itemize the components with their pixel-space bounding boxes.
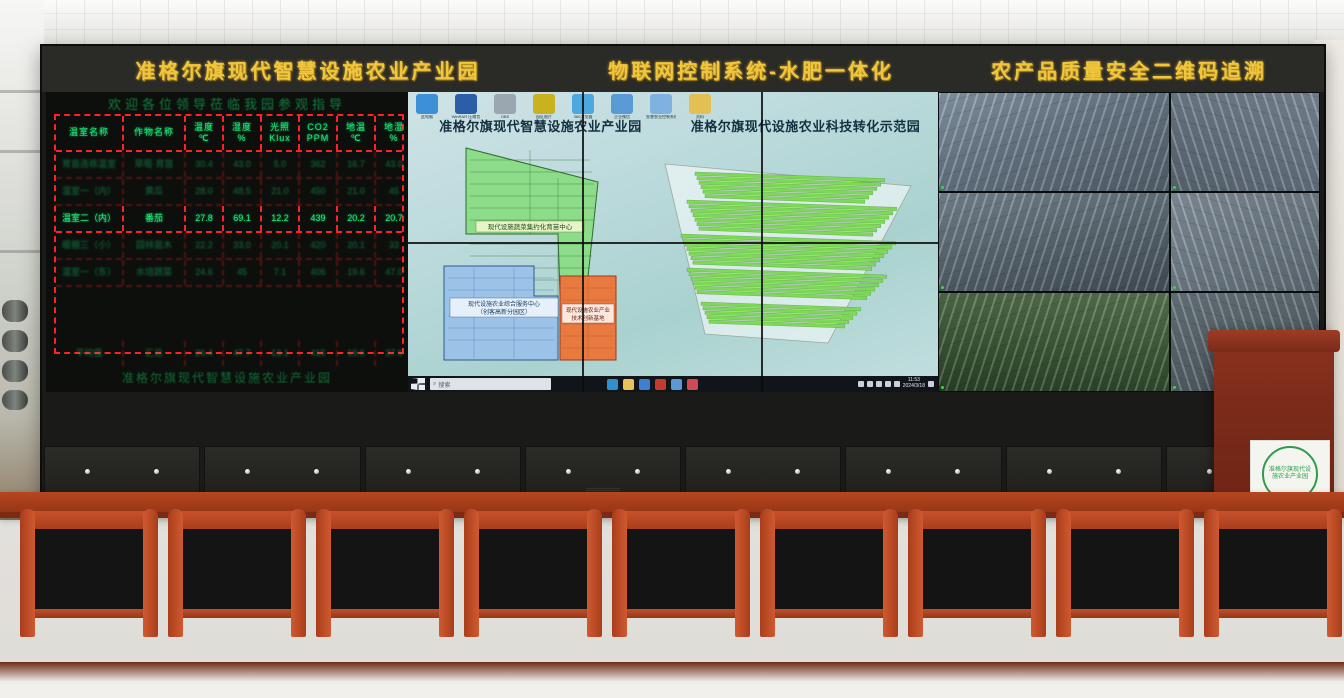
table-cell: 406 bbox=[300, 260, 338, 285]
door-knob[interactable] bbox=[245, 469, 250, 474]
ceiling bbox=[0, 0, 1344, 46]
table-cell: 21.0 bbox=[338, 179, 376, 204]
table-cell: 汇总 bbox=[124, 341, 186, 366]
taskbar-clock[interactable]: 11:53 2024/3/18 bbox=[903, 378, 925, 390]
control-room-photo: 准格尔旗现代智慧设施农业产业园 物联网控制系统-水肥一体化 农产品质量安全二维码… bbox=[0, 0, 1344, 698]
table-cell: 温室二（内） bbox=[56, 206, 124, 231]
table-cell bbox=[224, 314, 262, 339]
table-cell: 30.4 bbox=[186, 152, 224, 177]
column-header: 作物名称 bbox=[124, 116, 186, 150]
table-cell: 20.7 bbox=[376, 206, 408, 231]
table-cell: 69.1 bbox=[224, 206, 262, 231]
svg-text:现代设施农业综合服务中心: 现代设施农业综合服务中心 bbox=[468, 300, 540, 308]
table-cell: 温室一（东） bbox=[56, 260, 124, 285]
map-area: 现代设施蔬菜集约化育苗中心 现代设施农业综合服务中心 （创客高新分园区） bbox=[408, 136, 938, 366]
door-knob[interactable] bbox=[406, 469, 411, 474]
table-cell: 13.1 bbox=[262, 341, 300, 366]
table-cell: 22.2 bbox=[186, 233, 224, 258]
table-cell: 45 bbox=[224, 260, 262, 285]
table-cell: 48.5 bbox=[224, 179, 262, 204]
table-cell: 21.0 bbox=[262, 179, 300, 204]
map-title-left: 准格尔旗现代智慧设施农业产业园 bbox=[408, 116, 673, 135]
table-row: 暖棚三（小）园林苗木22.233.020.142020.133 bbox=[56, 233, 402, 260]
table-cell: 28.0 bbox=[186, 179, 224, 204]
table-cell bbox=[338, 314, 376, 339]
table-cell: 20.1 bbox=[262, 233, 300, 258]
map-titles: 准格尔旗现代智慧设施农业产业园 准格尔旗现代设施农业科技转化示范园 bbox=[408, 116, 938, 135]
conference-chair bbox=[1198, 505, 1344, 665]
map-title-right: 准格尔旗现代设施农业科技转化示范园 bbox=[673, 116, 938, 135]
taskbar-search-input[interactable]: ⌕ 搜索 bbox=[430, 378, 551, 390]
edge-icon[interactable] bbox=[607, 379, 618, 390]
table-cell: 415 bbox=[300, 341, 338, 366]
recording-indicator bbox=[941, 386, 944, 389]
table-cell bbox=[376, 314, 408, 339]
cam-3[interactable] bbox=[938, 192, 1170, 292]
door-knob[interactable] bbox=[1116, 469, 1121, 474]
recording-indicator bbox=[941, 286, 944, 289]
column-header: 湿度% bbox=[224, 116, 262, 150]
table-cell: 19.6 bbox=[338, 341, 376, 366]
table-cell: 5.0 bbox=[262, 152, 300, 177]
table-cell: 温室一（内） bbox=[56, 179, 124, 204]
column-header: 地湿% bbox=[376, 116, 408, 150]
table-cell: 黄瓜 bbox=[124, 179, 186, 204]
clock-date: 2024/3/18 bbox=[903, 384, 925, 390]
site-plan-right bbox=[643, 138, 933, 364]
bottom-border bbox=[0, 684, 1344, 698]
conference-chair bbox=[754, 505, 904, 665]
cam-2[interactable] bbox=[1170, 92, 1320, 192]
table-cell: 43.0 bbox=[376, 152, 408, 177]
table-cell: 水培蔬菜 bbox=[124, 260, 186, 285]
table-cell bbox=[376, 287, 408, 312]
store-icon[interactable] bbox=[687, 379, 698, 390]
table-cell: 362 bbox=[300, 152, 338, 177]
video-wall: 准格尔旗现代智慧设施农业产业园 物联网控制系统-水肥一体化 农产品质量安全二维码… bbox=[40, 44, 1326, 503]
table-cell: 45 bbox=[376, 179, 408, 204]
network-icon bbox=[867, 381, 873, 387]
table-cell: 47.0 bbox=[376, 260, 408, 285]
door-knob[interactable] bbox=[1207, 469, 1212, 474]
start-button-icon[interactable] bbox=[411, 378, 425, 390]
column-header: 温室名称 bbox=[56, 116, 124, 150]
desktop-screen[interactable]: 此电脑WinRAR 压缩包OBS园区图片360浏览器企业微信智慧农业控制系统资料… bbox=[408, 92, 938, 392]
table-cell: 16.7 bbox=[338, 152, 376, 177]
door-knob[interactable] bbox=[955, 469, 960, 474]
taskbar-pinned-apps[interactable] bbox=[607, 379, 698, 390]
door-knob[interactable] bbox=[314, 469, 319, 474]
table-cell bbox=[186, 314, 224, 339]
table-cell: 43.0 bbox=[224, 152, 262, 177]
led-footer: 准格尔旗现代智慧设施农业产业园 bbox=[46, 369, 408, 386]
table-cell bbox=[56, 287, 124, 312]
table-cell: 20.2 bbox=[338, 206, 376, 231]
table-cell bbox=[224, 287, 262, 312]
table-cell bbox=[300, 314, 338, 339]
banner-title-center: 物联网控制系统-水肥一体化 bbox=[566, 50, 936, 88]
table-cell: 26.4 bbox=[186, 341, 224, 366]
table-cell: 育苗连栋温室 bbox=[56, 152, 124, 177]
table-cell: 439 bbox=[300, 206, 338, 231]
table-cell bbox=[124, 287, 186, 312]
door-knob[interactable] bbox=[85, 469, 90, 474]
conference-chair bbox=[162, 505, 312, 665]
table-cell: 番茄 bbox=[124, 206, 186, 231]
table-row: 温室一（内）黄瓜28.048.521.045021.045 bbox=[56, 179, 402, 206]
site-plan-left: 现代设施蔬菜集约化育苗中心 现代设施农业综合服务中心 （创客高新分园区） bbox=[430, 138, 630, 364]
table-cell: 37.9 bbox=[376, 341, 408, 366]
column-header: CO2PPM bbox=[300, 116, 338, 150]
door-knob[interactable] bbox=[475, 469, 480, 474]
table-cell bbox=[186, 287, 224, 312]
conference-chair bbox=[902, 505, 1052, 665]
system-tray[interactable]: 11:53 2024/3/18 bbox=[858, 378, 938, 390]
table-cell bbox=[262, 314, 300, 339]
mail-icon[interactable] bbox=[639, 379, 650, 390]
chair-row bbox=[0, 505, 1344, 675]
door-knob[interactable] bbox=[1047, 469, 1052, 474]
volume-icon bbox=[876, 381, 882, 387]
ime-icon bbox=[894, 381, 900, 387]
table-row: 育苗连栋温室草莓·育苗30.443.05.036216.743.0 bbox=[56, 152, 402, 179]
svg-text:技术创新基地: 技术创新基地 bbox=[571, 314, 605, 322]
left-window-wall bbox=[0, 0, 44, 520]
table-cell: 450 bbox=[300, 179, 338, 204]
svg-text:（创客高新分园区）: （创客高新分园区） bbox=[477, 308, 531, 316]
table-cell bbox=[262, 287, 300, 312]
table-cell bbox=[300, 287, 338, 312]
chevron-up-icon bbox=[858, 381, 864, 387]
door-knob[interactable] bbox=[795, 469, 800, 474]
door-knob[interactable] bbox=[154, 469, 159, 474]
screen-row: 欢迎各位领导莅临我园参观指导 温室名称作物名称温度℃湿度%光照KluxCO2PP… bbox=[46, 92, 1320, 392]
banner-title-right: 农产品质量安全二维码追溯 bbox=[938, 50, 1320, 88]
table-cell: 7.1 bbox=[262, 260, 300, 285]
table-cell: 园林苗木 bbox=[124, 233, 186, 258]
table-cell: 平均值 bbox=[56, 341, 124, 366]
table-cell bbox=[56, 314, 124, 339]
table-row: 温室一（东）水培蔬菜24.6457.140619.647.0 bbox=[56, 260, 402, 287]
table-cell: 27.8 bbox=[186, 206, 224, 231]
table-cell: 24.6 bbox=[186, 260, 224, 285]
door-knob[interactable] bbox=[726, 469, 731, 474]
table-row: 温室二（内）番茄27.869.112.243920.220.7 bbox=[56, 206, 402, 233]
led-data-board: 欢迎各位领导莅临我园参观指导 温室名称作物名称温度℃湿度%光照KluxCO2PP… bbox=[46, 92, 408, 392]
recording-indicator bbox=[941, 186, 944, 189]
notification-icon bbox=[928, 381, 934, 387]
explorer-icon[interactable] bbox=[623, 379, 634, 390]
column-header: 光照Klux bbox=[262, 116, 300, 150]
cam-5[interactable] bbox=[938, 292, 1170, 392]
door-knob[interactable] bbox=[886, 469, 891, 474]
greenhouse-sensor-table: 温室名称作物名称温度℃湿度%光照KluxCO2PPM地温℃地湿%育苗连栋温室草莓… bbox=[54, 114, 404, 354]
table-header-row: 温室名称作物名称温度℃湿度%光照KluxCO2PPM地温℃地湿% bbox=[56, 116, 402, 152]
door-knob[interactable] bbox=[635, 469, 640, 474]
column-header: 地温℃ bbox=[338, 116, 376, 150]
conference-chair bbox=[14, 505, 164, 665]
door-knob[interactable] bbox=[566, 469, 571, 474]
table-cell: 20.1 bbox=[338, 233, 376, 258]
search-placeholder: 搜索 bbox=[438, 380, 450, 389]
search-icon: ⌕ bbox=[433, 381, 436, 388]
conference-chair bbox=[1050, 505, 1200, 665]
people-icon[interactable] bbox=[671, 379, 682, 390]
table-cell: 暖棚三（小） bbox=[56, 233, 124, 258]
record-icon[interactable] bbox=[655, 379, 666, 390]
table-cell: 33.0 bbox=[224, 233, 262, 258]
table-cell: 12.2 bbox=[262, 206, 300, 231]
table-cell: 33 bbox=[376, 233, 408, 258]
windows-taskbar[interactable]: ⌕ 搜索 11:53 2024/3/18 bbox=[408, 376, 938, 392]
table-row: 平均值汇总26.447.713.141519.637.9 bbox=[56, 341, 402, 366]
banner-title-left: 准格尔旗现代智慧设施农业产业园 bbox=[52, 50, 564, 88]
svg-text:现代设施蔬菜集约化育苗中心: 现代设施蔬菜集约化育苗中心 bbox=[488, 222, 573, 231]
table-cell: 420 bbox=[300, 233, 338, 258]
table-cell: 47.7 bbox=[224, 341, 262, 366]
table-cell bbox=[124, 314, 186, 339]
conference-chair bbox=[310, 505, 460, 665]
svg-text:现代设施农业产业: 现代设施农业产业 bbox=[566, 306, 611, 314]
cam-1[interactable] bbox=[938, 92, 1170, 192]
column-header: 温度℃ bbox=[186, 116, 224, 150]
table-cell bbox=[338, 287, 376, 312]
cam-4[interactable] bbox=[1170, 192, 1320, 292]
table-cell: 19.6 bbox=[338, 260, 376, 285]
conference-chair bbox=[606, 505, 756, 665]
battery-icon bbox=[885, 381, 891, 387]
conference-chair bbox=[458, 505, 608, 665]
led-subtitle: 欢迎各位领导莅临我园参观指导 bbox=[46, 94, 408, 113]
table-cell: 草莓·育苗 bbox=[124, 152, 186, 177]
